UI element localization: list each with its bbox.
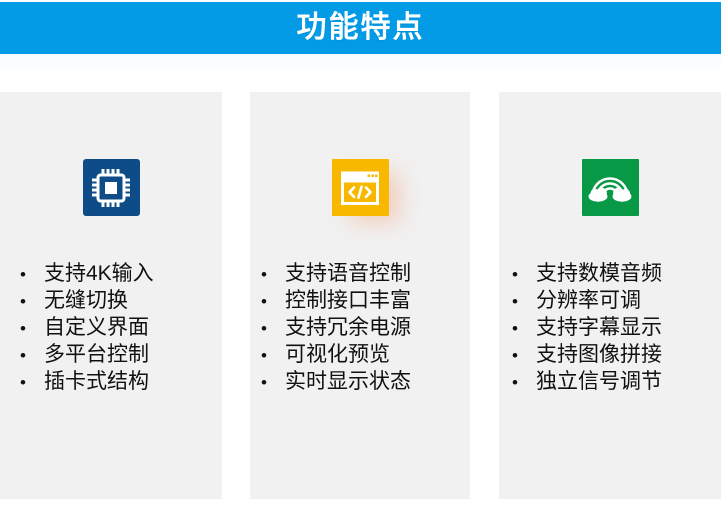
bullet-icon: • <box>512 342 518 369</box>
bullet-icon: • <box>20 342 26 369</box>
feature-label: 无缝切换 <box>44 287 128 314</box>
header-banner: 功能特点 <box>0 2 721 54</box>
bullet-icon: • <box>512 261 518 288</box>
list-item: • 独立信号调节 <box>512 368 721 395</box>
icon-container-3 <box>499 159 721 216</box>
feature-label: 独立信号调节 <box>536 368 662 395</box>
list-item: • 分辨率可调 <box>512 287 721 314</box>
list-item: • 插卡式结构 <box>20 368 242 395</box>
bullet-icon: • <box>261 288 267 315</box>
feature-list-3: • 支持数模音频 • 分辨率可调 • 支持字幕显示 • 支持图像拼接 • 独立信… <box>499 260 721 395</box>
feature-list-2: • 支持语音控制 • 控制接口丰富 • 支持冗余电源 • 可视化预览 • 实时显… <box>250 260 481 395</box>
feature-label: 自定义界面 <box>44 314 149 341</box>
feature-list-1: • 支持4K输入 • 无缝切换 • 自定义界面 • 多平台控制 • 插卡式结构 <box>0 260 242 395</box>
bottom-white-strip <box>0 499 721 507</box>
bullet-icon: • <box>261 342 267 369</box>
feature-label: 控制接口丰富 <box>285 287 411 314</box>
feature-card-1: • 支持4K输入 • 无缝切换 • 自定义界面 • 多平台控制 • 插卡式结构 <box>0 92 222 499</box>
feature-label: 分辨率可调 <box>536 287 641 314</box>
bullet-icon: • <box>512 315 518 342</box>
feature-label: 支持字幕显示 <box>536 314 662 341</box>
list-item: • 自定义界面 <box>20 314 242 341</box>
banner-fade-strip <box>0 54 721 92</box>
bullet-icon: • <box>20 369 26 396</box>
icon-container-1 <box>0 159 222 216</box>
rainbow-cloud-icon <box>582 159 639 216</box>
list-item: • 控制接口丰富 <box>261 287 481 314</box>
list-item: • 无缝切换 <box>20 287 242 314</box>
chip-icon <box>83 159 140 216</box>
feature-label: 支持冗余电源 <box>285 314 411 341</box>
list-item: • 支持语音控制 <box>261 260 481 287</box>
feature-label: 可视化预览 <box>285 341 390 368</box>
code-window-icon <box>332 159 389 216</box>
feature-label: 支持语音控制 <box>285 260 411 287</box>
feature-label: 支持数模音频 <box>536 260 662 287</box>
bullet-icon: • <box>261 369 267 396</box>
bullet-icon: • <box>261 261 267 288</box>
page-title: 功能特点 <box>297 13 425 43</box>
bullet-icon: • <box>512 369 518 396</box>
bullet-icon: • <box>261 315 267 342</box>
feature-card-2: • 支持语音控制 • 控制接口丰富 • 支持冗余电源 • 可视化预览 • 实时显… <box>250 92 470 499</box>
feature-label: 插卡式结构 <box>44 368 149 395</box>
bullet-icon: • <box>20 261 26 288</box>
list-item: • 多平台控制 <box>20 341 242 368</box>
bullet-icon: • <box>20 315 26 342</box>
list-item: • 支持4K输入 <box>20 260 242 287</box>
feature-label: 实时显示状态 <box>285 368 411 395</box>
list-item: • 支持数模音频 <box>512 260 721 287</box>
feature-label: 多平台控制 <box>44 341 149 368</box>
list-item: • 支持冗余电源 <box>261 314 481 341</box>
feature-cards-row: • 支持4K输入 • 无缝切换 • 自定义界面 • 多平台控制 • 插卡式结构 <box>0 92 721 499</box>
bullet-icon: • <box>20 288 26 315</box>
feature-card-3: • 支持数模音频 • 分辨率可调 • 支持字幕显示 • 支持图像拼接 • 独立信… <box>499 92 721 499</box>
icon-container-2 <box>250 159 470 216</box>
feature-label: 支持4K输入 <box>44 260 154 287</box>
list-item: • 支持图像拼接 <box>512 341 721 368</box>
list-item: • 支持字幕显示 <box>512 314 721 341</box>
feature-label: 支持图像拼接 <box>536 341 662 368</box>
bullet-icon: • <box>512 288 518 315</box>
list-item: • 实时显示状态 <box>261 368 481 395</box>
list-item: • 可视化预览 <box>261 341 481 368</box>
